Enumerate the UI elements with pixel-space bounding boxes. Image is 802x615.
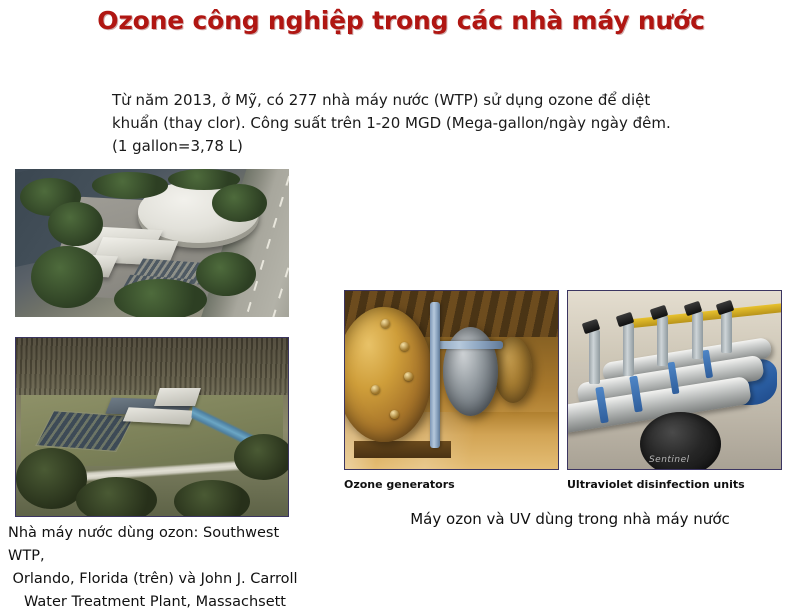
uv-lamp-riser [589,330,600,383]
sentinel-brand-text: Sentinel [649,455,690,465]
blue-process-pipe [430,341,502,349]
blue-process-pipe [430,302,440,448]
caption-left-line-3: Water Treatment Plant, Massachsett [0,591,310,614]
aerial-tank-artwork [15,169,289,317]
flange-bolt [404,372,413,381]
uv-lamp-riser [692,312,703,358]
caption-ozone-generators: Ozone generators [344,478,455,491]
caption-left-plants: Nhà máy nước dùng ozon: Southwest WTP, O… [0,522,310,614]
flange-bolt [390,410,399,419]
ozone-vessel-mid [443,327,498,416]
flange-bolt [381,319,390,328]
tree-cluster [114,279,207,317]
tree-cluster [92,172,169,199]
tree-cluster [174,480,250,517]
tree-cluster [31,246,102,308]
body-paragraph: Từ năm 2013, ở Mỹ, có 277 nhà máy nước (… [112,89,690,158]
uv-lamp-riser [721,311,732,354]
ozone-generator-artwork [345,291,558,469]
image-aerial-plant-circular-tank [15,169,289,317]
tree-cluster [48,202,103,246]
flange-bolt [400,342,409,351]
image-uv-disinfection-units: Sentinel [567,290,782,470]
slide-canvas: Ozone công nghiệp trong các nhà máy nước… [0,0,802,615]
tree-cluster [234,434,289,480]
uv-lamp-riser [623,323,634,376]
aerial-valley-artwork [16,338,288,516]
flange-bolt [371,385,380,394]
caption-uv-disinfection-units: Ultraviolet disinfection units [567,478,745,491]
tree-cluster [76,477,158,517]
uv-unit-artwork: Sentinel [568,291,781,469]
caption-right-machines: Máy ozon và UV dùng trong nhà máy nước [360,508,780,530]
forested-hillside [16,338,288,395]
tree-cluster [212,184,267,222]
image-aerial-valley-plant [15,337,289,517]
tree-cluster [196,252,256,296]
page-title: Ozone công nghiệp trong các nhà máy nước [0,6,802,35]
uv-lamp-riser [657,316,668,366]
image-ozone-generators [344,290,559,470]
caption-left-line-1: Nhà máy nước dùng ozon: Southwest WTP, [0,522,310,568]
caption-left-line-2: Orlando, Florida (trên) và John J. Carro… [0,568,310,591]
